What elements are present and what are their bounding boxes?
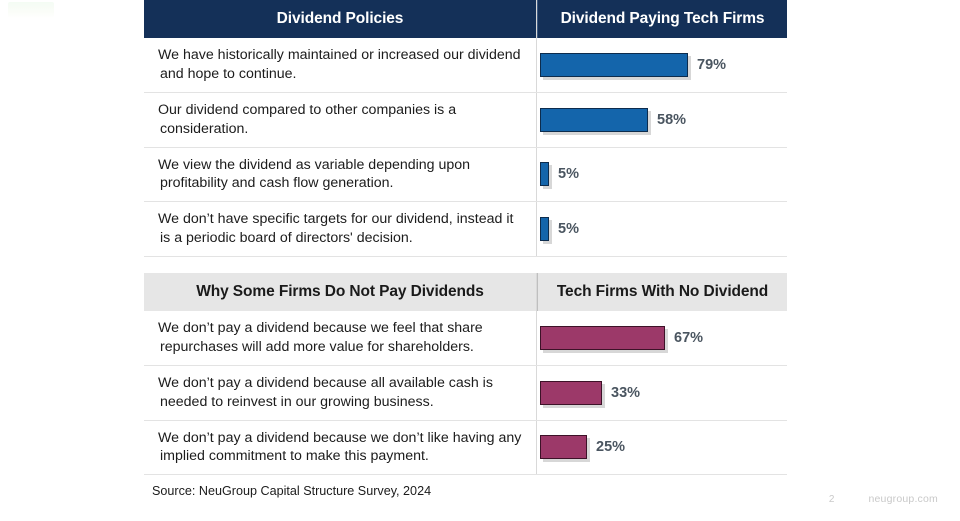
- table-separator: [144, 257, 786, 273]
- row-bar-cell: 67%: [537, 311, 788, 365]
- table-header-row: Why Some Firms Do Not Pay Dividends Tech…: [144, 273, 787, 311]
- value-label: 25%: [596, 439, 625, 455]
- table-row: We don’t pay a dividend because we feel …: [144, 311, 787, 365]
- decorative-corner-mark: [8, 2, 54, 18]
- page-number: 2: [829, 494, 835, 505]
- policy-statement: We view the dividend as variable dependi…: [150, 148, 536, 202]
- slide-footer: 2 neugroup.com: [829, 493, 938, 505]
- row-label-cell: We don’t have specific targets for our d…: [144, 202, 537, 257]
- table-row: We don’t pay a dividend because all avai…: [144, 365, 787, 420]
- bar-container: 79%: [537, 38, 787, 92]
- row-label-cell: We have historically maintained or incre…: [144, 38, 537, 92]
- row-bar-cell: 79%: [537, 38, 788, 92]
- row-bar-cell: 5%: [537, 147, 788, 202]
- value-bar: [540, 435, 587, 459]
- header-label-policies: Dividend Policies: [144, 0, 536, 38]
- header-label-no-dividend: Tech Firms With No Dividend: [537, 273, 787, 311]
- table-row: We don’t pay a dividend because we don’t…: [144, 420, 787, 475]
- header-cell-no-dividend: Tech Firms With No Dividend: [537, 273, 788, 311]
- bar-container: 33%: [537, 366, 787, 420]
- table-header-row: Dividend Policies Dividend Paying Tech F…: [144, 0, 787, 38]
- header-label-paying-firms: Dividend Paying Tech Firms: [537, 0, 787, 38]
- reason-statement: We don’t pay a dividend because we don’t…: [150, 421, 536, 475]
- value-bar: [540, 381, 602, 405]
- table-row: We have historically maintained or incre…: [144, 38, 787, 92]
- bar-container: 25%: [537, 421, 787, 475]
- row-label-cell: Our dividend compared to other companies…: [144, 92, 537, 147]
- table-row: Our dividend compared to other companies…: [144, 92, 787, 147]
- value-bar: [540, 326, 665, 350]
- value-label: 5%: [558, 221, 579, 237]
- brand-label: neugroup.com: [868, 493, 938, 505]
- slide-content: Dividend Policies Dividend Paying Tech F…: [144, 0, 786, 498]
- value-label: 79%: [697, 57, 726, 73]
- bar-container: 67%: [537, 311, 787, 365]
- header-cell-policies: Dividend Policies: [144, 0, 537, 38]
- bar-container: 5%: [537, 148, 787, 202]
- value-bar: [540, 53, 688, 77]
- row-bar-cell: 25%: [537, 420, 788, 475]
- policy-statement: We don’t have specific targets for our d…: [150, 202, 536, 256]
- no-dividend-reasons-table: Why Some Firms Do Not Pay Dividends Tech…: [144, 273, 787, 475]
- value-bar: [540, 217, 549, 241]
- value-label: 5%: [558, 166, 579, 182]
- reason-statement: We don’t pay a dividend because we feel …: [150, 311, 536, 365]
- table-row: We don’t have specific targets for our d…: [144, 202, 787, 257]
- row-label-cell: We don’t pay a dividend because all avai…: [144, 365, 537, 420]
- reason-statement: We don’t pay a dividend because all avai…: [150, 366, 536, 420]
- row-label-cell: We don’t pay a dividend because we don’t…: [144, 420, 537, 475]
- value-label: 58%: [657, 112, 686, 128]
- row-bar-cell: 5%: [537, 202, 788, 257]
- policy-statement: Our dividend compared to other companies…: [150, 93, 536, 147]
- table-row: We view the dividend as variable dependi…: [144, 147, 787, 202]
- value-bar: [540, 162, 549, 186]
- value-bar: [540, 108, 648, 132]
- bar-container: 58%: [537, 93, 787, 147]
- value-label: 33%: [611, 385, 640, 401]
- row-bar-cell: 58%: [537, 92, 788, 147]
- row-bar-cell: 33%: [537, 365, 788, 420]
- bar-container: 5%: [537, 202, 787, 256]
- row-label-cell: We don’t pay a dividend because we feel …: [144, 311, 537, 365]
- policy-statement: We have historically maintained or incre…: [150, 38, 536, 92]
- source-note: Source: NeuGroup Capital Structure Surve…: [152, 484, 786, 498]
- header-cell-paying-firms: Dividend Paying Tech Firms: [537, 0, 788, 38]
- dividend-policies-table: Dividend Policies Dividend Paying Tech F…: [144, 0, 787, 257]
- header-label-reasons: Why Some Firms Do Not Pay Dividends: [144, 273, 536, 311]
- row-label-cell: We view the dividend as variable dependi…: [144, 147, 537, 202]
- header-cell-reasons: Why Some Firms Do Not Pay Dividends: [144, 273, 537, 311]
- value-label: 67%: [674, 330, 703, 346]
